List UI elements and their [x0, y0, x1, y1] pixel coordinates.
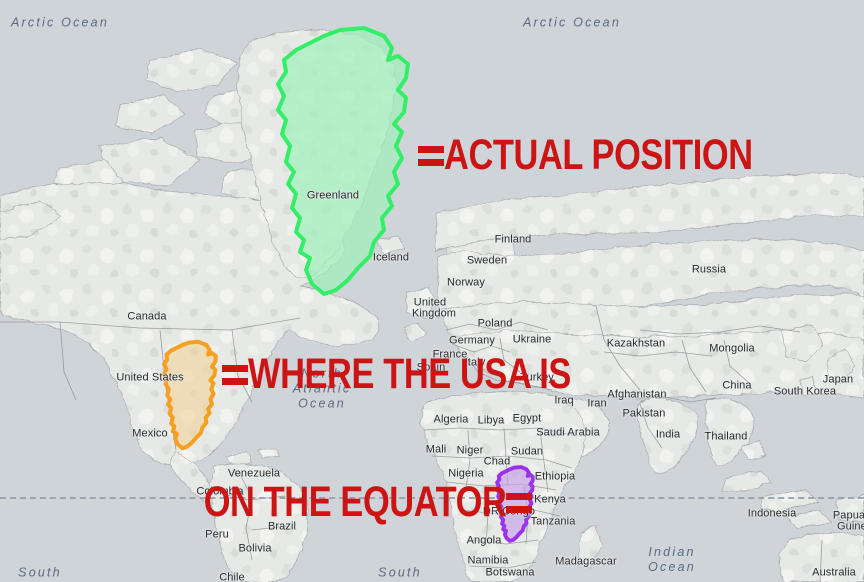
equals-sign-icon: [418, 145, 444, 167]
annotation-where-the-usa-is: WHERE THE USA IS: [222, 353, 652, 396]
annotation-text: WHERE THE USA IS: [248, 353, 571, 396]
annotation-on-the-equator: ON THE EQUATOR: [128, 481, 532, 524]
equals-sign-icon: [506, 492, 532, 514]
annotation-text: ACTUAL POSITION: [444, 134, 753, 177]
map-screenshot: GreenlandIcelandCanadaUnited StatesMexic…: [0, 0, 864, 582]
annotation-actual-position: ACTUAL POSITION: [418, 134, 830, 177]
equals-sign-icon: [222, 364, 248, 386]
annotation-text: ON THE EQUATOR: [204, 481, 507, 524]
